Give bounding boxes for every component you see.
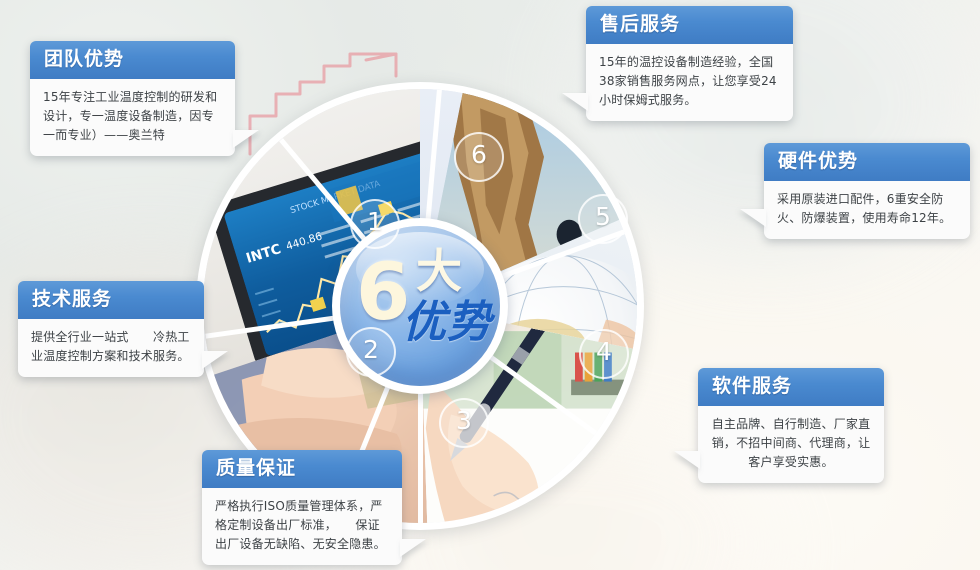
marker-3[interactable]: 3 xyxy=(439,398,489,448)
card-body-hardware: 采用原装进口配件，6重安全防火、防爆装置，使用寿命12年。 xyxy=(764,181,970,239)
marker-6[interactable]: 6 xyxy=(454,132,504,182)
marker-2[interactable]: 2 xyxy=(346,327,396,377)
callout-card-team[interactable]: 团队优势 15年专注工业温度控制的研发和设计，专一温度设备制造，因专一而专业）—… xyxy=(30,41,235,156)
card-title-hardware: 硬件优势 xyxy=(764,143,970,181)
marker-5[interactable]: 5 xyxy=(578,194,628,244)
card-body-software: 自主品牌、自行制造、厂家直销，不招中间商、代理商，让客户享受实惠。 xyxy=(698,406,884,483)
callout-card-quality[interactable]: 质量保证 严格执行ISO质量管理体系，严格定制设备出厂标准， 保证出厂设备无缺陷… xyxy=(202,450,402,565)
card-title-quality: 质量保证 xyxy=(202,450,402,488)
card-body-quality: 严格执行ISO质量管理体系，严格定制设备出厂标准， 保证出厂设备无缺陷、无安全隐… xyxy=(202,488,402,565)
callout-card-after-sales[interactable]: 售后服务 15年的温控设备制造经验，全国38家销售服务网点，让您享受24小时保姆… xyxy=(586,6,793,121)
hub-word: 优势 xyxy=(402,300,492,346)
card-title-technical: 技术服务 xyxy=(18,281,204,319)
marker-1[interactable]: 1 xyxy=(350,199,400,249)
callout-tail xyxy=(674,451,700,469)
callout-card-software[interactable]: 软件服务 自主品牌、自行制造、厂家直销，不招中间商、代理商，让客户享受实惠。 xyxy=(698,368,884,483)
infographic-poster: STOCK MARKET DATA INTC 440.86 xyxy=(0,0,980,570)
card-body-team: 15年专注工业温度控制的研发和设计，专一温度设备制造，因专一而专业）——奥兰特 xyxy=(30,79,235,156)
marker-4[interactable]: 4 xyxy=(579,329,629,379)
card-title-team: 团队优势 xyxy=(30,41,235,79)
callout-card-hardware[interactable]: 硬件优势 采用原装进口配件，6重安全防火、防爆装置，使用寿命12年。 xyxy=(764,143,970,239)
hub-unit: 大 xyxy=(416,248,462,294)
card-title-software: 软件服务 xyxy=(698,368,884,406)
card-title-after-sales: 售后服务 xyxy=(586,6,793,44)
callout-card-technical[interactable]: 技术服务 提供全行业一站式 冷热工业温度控制方案和技术服务。 xyxy=(18,281,204,377)
card-body-after-sales: 15年的温控设备制造经验，全国38家销售服务网点，让您享受24小时保姆式服务。 xyxy=(586,44,793,121)
callout-tail xyxy=(740,209,766,227)
callout-tail xyxy=(400,539,426,557)
card-body-technical: 提供全行业一站式 冷热工业温度控制方案和技术服务。 xyxy=(18,319,204,377)
